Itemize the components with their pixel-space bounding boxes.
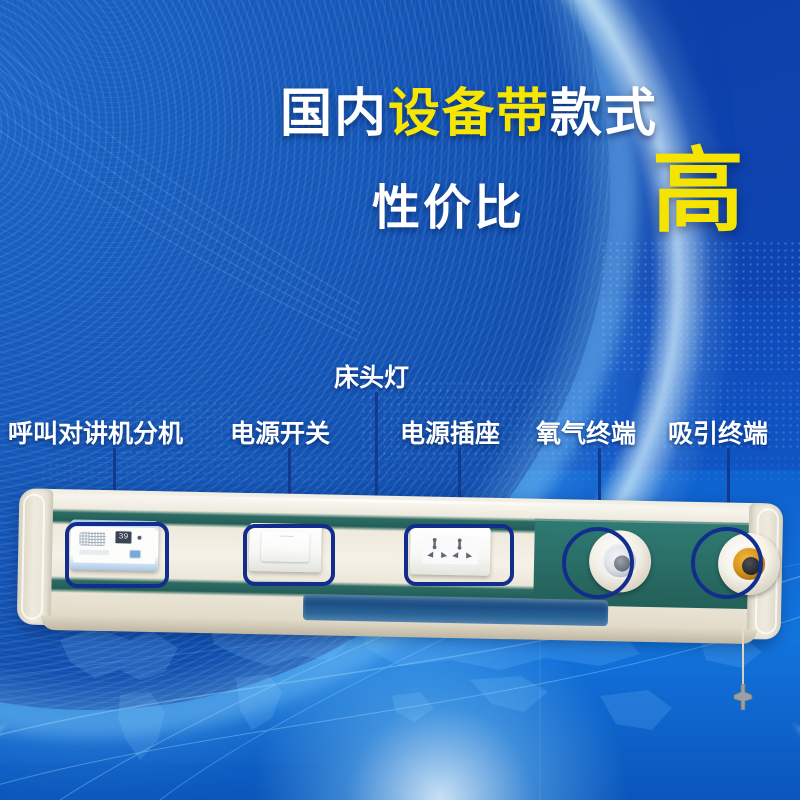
headline-line-2: 性价比	[372, 168, 525, 238]
callout-label-switch: 电源开关	[230, 414, 330, 450]
headline-highlight: 设备带	[388, 85, 550, 143]
callout-label-suction: 吸引终端	[668, 414, 768, 450]
halftone-dots-1	[600, 240, 800, 370]
highlight-box-intercom	[65, 522, 169, 588]
callout-label-intercom: 呼叫对讲机分机	[8, 414, 183, 450]
unit-endcap-left	[17, 488, 54, 625]
headline-big-char: 高	[652, 146, 744, 238]
cord-hook-icon	[732, 684, 754, 710]
highlight-box-socket	[404, 524, 514, 586]
callout-label-lamp: 床头灯	[334, 358, 409, 394]
endcap-left-ring	[21, 493, 46, 619]
highlight-circle-oxygen	[562, 527, 634, 599]
headline-prefix: 国内	[280, 85, 388, 143]
halftone-dots-5	[40, 455, 800, 483]
poster-canvas: 国内设备带款式 性价比 高 呼叫对讲机分机 电源开关 床头灯 电源插座 氧气终端…	[0, 0, 800, 800]
callout-label-socket: 电源插座	[400, 414, 500, 450]
headline-suffix: 款式	[550, 85, 658, 143]
callout-label-oxygen: 氧气终端	[536, 414, 636, 450]
highlight-box-switch	[243, 524, 335, 586]
pull-cord	[742, 612, 744, 692]
headline-line-1: 国内设备带款式	[280, 88, 780, 140]
highlight-circle-suction	[691, 527, 763, 599]
light-rays-top-left	[0, 0, 360, 340]
